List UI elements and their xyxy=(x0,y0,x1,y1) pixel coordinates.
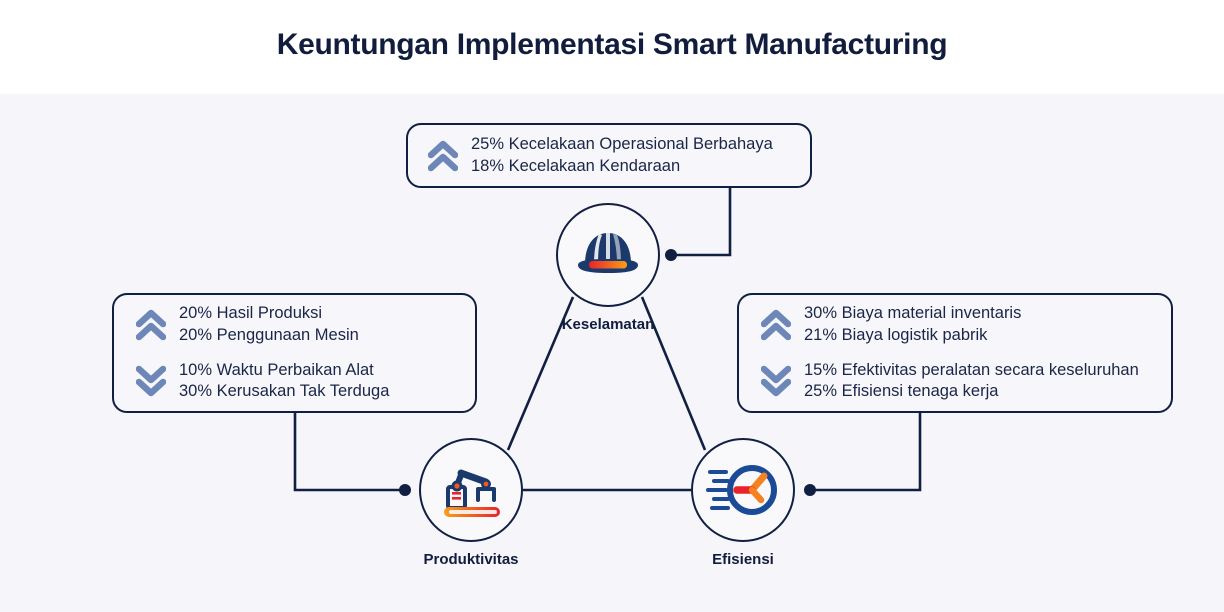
double-chevron-up-icon xyxy=(428,139,458,173)
stat-line: 25% Kecelakaan Operasional Berbahaya xyxy=(471,134,773,156)
double-chevron-down-icon xyxy=(761,364,791,398)
node-produktivitas[interactable]: Produktivitas xyxy=(419,438,523,568)
stat-group-up: 20% Hasil Produksi 20% Penggunaan Mesin xyxy=(136,303,475,347)
stat-line: 18% Kecelakaan Kendaraan xyxy=(471,156,773,178)
node-circle[interactable] xyxy=(556,203,660,307)
node-circle[interactable] xyxy=(691,438,795,542)
stat-group-up: 30% Biaya material inventaris 21% Biaya … xyxy=(761,303,1171,347)
leader-dot-top xyxy=(665,249,677,261)
stat-group-down: 15% Efektivitas peralatan secara keselur… xyxy=(761,360,1171,404)
double-chevron-down-icon xyxy=(136,364,166,398)
leader-right-callout xyxy=(810,413,920,490)
stat-line: 21% Biaya logistik pabrik xyxy=(804,325,1021,347)
stat-line: 20% Hasil Produksi xyxy=(179,303,359,325)
node-circle[interactable] xyxy=(419,438,523,542)
leader-dot-left xyxy=(399,484,411,496)
node-label: Keselamatan xyxy=(556,316,660,333)
callout-safety: 25% Kecelakaan Operasional Berbahaya 18%… xyxy=(406,123,812,188)
safety-helmet-icon xyxy=(572,224,644,286)
stat-group-up: 25% Kecelakaan Operasional Berbahaya 18%… xyxy=(428,134,810,178)
fast-clock-icon xyxy=(706,459,780,521)
double-chevron-up-icon xyxy=(136,308,166,342)
stat-line: 20% Penggunaan Mesin xyxy=(179,325,359,347)
stat-line: 15% Efektivitas peralatan secara keselur… xyxy=(804,360,1139,382)
node-label: Efisiensi xyxy=(691,551,795,568)
leader-dot-right xyxy=(804,484,816,496)
stat-line: 30% Kerusakan Tak Terduga xyxy=(179,381,389,403)
double-chevron-up-icon xyxy=(761,308,791,342)
infographic-canvas: Keuntungan Implementasi Smart Manufactur… xyxy=(0,0,1224,612)
node-efisiensi[interactable]: Efisiensi xyxy=(691,438,795,568)
stat-line: 30% Biaya material inventaris xyxy=(804,303,1021,325)
stat-line: 10% Waktu Perbaikan Alat xyxy=(179,360,389,382)
stat-group-down: 10% Waktu Perbaikan Alat 30% Kerusakan T… xyxy=(136,360,475,404)
leader-left-callout xyxy=(295,413,405,490)
node-keselamatan[interactable]: Keselamatan xyxy=(556,203,660,333)
callout-efficiency: 30% Biaya material inventaris 21% Biaya … xyxy=(737,293,1173,413)
callout-productivity: 20% Hasil Produksi 20% Penggunaan Mesin … xyxy=(112,293,477,413)
stat-line: 25% Efisiensi tenaga kerja xyxy=(804,381,1139,403)
leader-top-callout xyxy=(672,188,730,255)
robot-arm-icon xyxy=(435,457,507,523)
node-label: Produktivitas xyxy=(419,551,523,568)
